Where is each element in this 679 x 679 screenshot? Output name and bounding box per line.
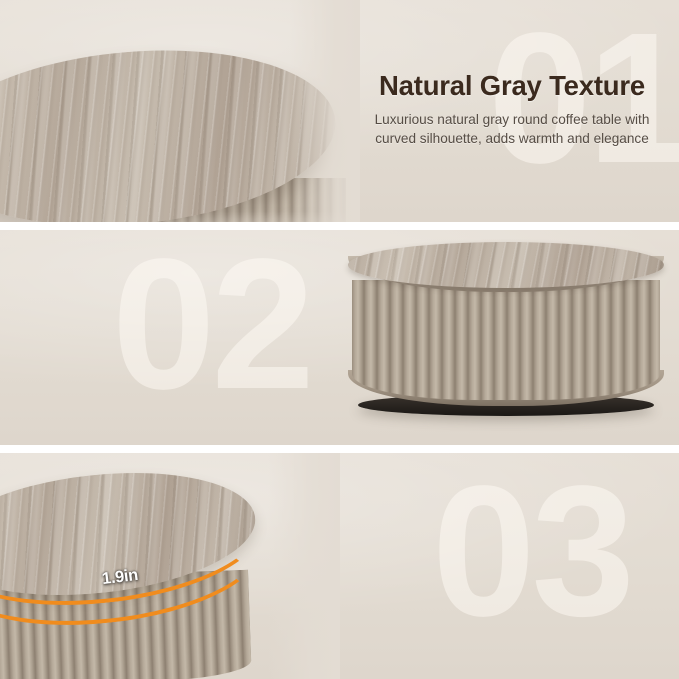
feature-description: Luxurious natural gray round coffee tabl… xyxy=(352,110,672,149)
feature-description-line: Luxurious natural gray round coffee tabl… xyxy=(375,112,650,127)
infographic-page: 01 Natural Gray Texture Luxurious natura… xyxy=(0,0,679,679)
tabletop-surface xyxy=(348,242,664,288)
panel-number-watermark: 02 xyxy=(112,232,311,418)
product-image-tabletop-closeup xyxy=(0,0,360,222)
panel-divider xyxy=(0,445,679,453)
feature-title: Natural Gray Texture xyxy=(352,72,672,101)
image-edge-fade xyxy=(290,0,360,222)
feature-description-line: curved silhouette, adds warmth and elega… xyxy=(375,131,649,146)
image-edge-fade xyxy=(268,453,340,679)
feature-panel-1: 01 Natural Gray Texture Luxurious natura… xyxy=(0,0,679,222)
feature-text-block-1: Natural Gray Texture Luxurious natural g… xyxy=(352,72,672,148)
fluted-base-slats xyxy=(352,280,660,400)
feature-panel-2: 02 Fluted Base Design Artisan semi-circu… xyxy=(0,230,679,445)
product-image-thick-tabletop xyxy=(0,453,340,679)
product-image-fluted-side-view xyxy=(334,230,679,445)
panel-number-watermark: 03 xyxy=(432,459,631,645)
panel-divider xyxy=(0,222,679,230)
feature-panel-3: 03 Curved & Thickened Tabletop Thick, ro… xyxy=(0,453,679,679)
